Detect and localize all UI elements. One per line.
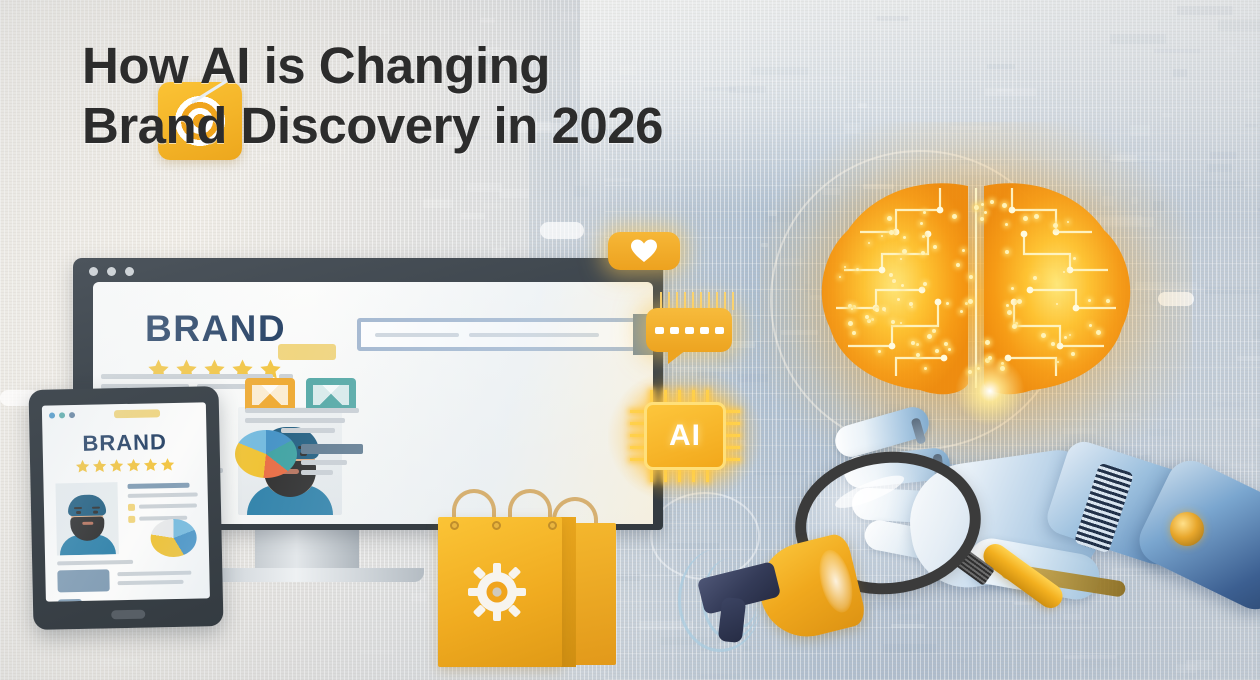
- brain-node-dot: [1106, 299, 1110, 303]
- title-line-2: Brand Discovery in 2026: [82, 96, 982, 156]
- brain-node-dot: [981, 203, 984, 206]
- brain-node-dot: [900, 258, 902, 260]
- brain-node-dot: [892, 279, 896, 283]
- brain-node-dot: [920, 222, 923, 225]
- brain-node-dot: [969, 275, 973, 279]
- title-line-1: How AI is Changing: [82, 37, 550, 94]
- brain-node-dot: [960, 310, 963, 313]
- megaphone: [672, 540, 862, 660]
- window-dot-icon[interactable]: [89, 267, 98, 276]
- brain-node-dot: [965, 302, 968, 305]
- brain-node-dot: [889, 230, 894, 235]
- chip-pin: [724, 458, 740, 461]
- tablet-home-button[interactable]: [111, 610, 145, 620]
- content-line: [301, 460, 347, 465]
- brain-node-dot: [1064, 336, 1067, 339]
- brain-node-dot: [871, 318, 874, 321]
- brain-node-dot: [927, 334, 932, 339]
- brain-node-dot: [851, 308, 853, 310]
- chip-pin: [724, 434, 740, 437]
- brain-node-dot: [1033, 276, 1037, 280]
- highlight-bar: [278, 344, 336, 360]
- brain-node-dot: [852, 331, 856, 335]
- chip-body: AI: [644, 402, 726, 470]
- chip-pin: [724, 410, 740, 413]
- brain-node-dot: [956, 263, 960, 267]
- brain-node-dot: [887, 216, 892, 221]
- window-dot-icon[interactable]: [107, 267, 116, 276]
- heart-badge[interactable]: [608, 232, 680, 270]
- brain-node-dot: [1067, 221, 1069, 223]
- screen-glare-overlay: [42, 402, 210, 601]
- typing-dot-icon: [685, 327, 694, 334]
- brain-node-dot: [903, 236, 906, 239]
- typing-dot-icon: [655, 327, 664, 334]
- brain-node-dot: [921, 251, 925, 255]
- brain-node-dot: [984, 211, 987, 214]
- heart-icon: [630, 238, 658, 264]
- brain-node-dot: [1041, 333, 1046, 338]
- chip-pin: [724, 422, 740, 425]
- brain-node-dot: [1002, 203, 1007, 208]
- brain-node-dot: [1017, 299, 1022, 304]
- brain-node-dot: [1063, 271, 1065, 273]
- brain-node-dot: [856, 268, 859, 271]
- brand-heading: BRAND: [145, 308, 286, 350]
- brain-node-dot: [889, 273, 893, 277]
- brain-node-dot: [968, 299, 973, 304]
- brain-node-dot: [980, 217, 984, 221]
- bag-grommet: [450, 521, 459, 530]
- brain-node-dot: [1069, 334, 1071, 336]
- content-line: [245, 408, 359, 413]
- brain-node-dot: [1089, 324, 1092, 327]
- search-input[interactable]: [357, 318, 639, 351]
- brain-node-dot: [901, 284, 904, 287]
- brain-node-dot: [932, 329, 936, 333]
- chip-label: AI: [669, 419, 701, 453]
- gear-icon: [468, 563, 526, 621]
- chip-pin: [650, 468, 653, 482]
- content-line: [301, 470, 333, 475]
- brain-node-dot: [1011, 287, 1014, 290]
- monitor-base: [192, 568, 424, 582]
- hero-illustration: How AI is Changing Brand Discovery in 20…: [0, 0, 1260, 680]
- brain-node-dot: [900, 322, 902, 324]
- magnifier-glare: [832, 470, 907, 514]
- brain-node-dot: [1006, 304, 1009, 307]
- content-line: [245, 418, 345, 423]
- brain-node-dot: [1034, 214, 1039, 219]
- brain-node-dot: [902, 249, 907, 254]
- cloud-shape: [540, 222, 584, 239]
- brain-node-dot: [839, 276, 841, 278]
- brain-node-dot: [1005, 250, 1009, 254]
- brain-node-dot: [875, 308, 879, 312]
- brain-node-dot: [974, 205, 979, 210]
- brain-node-dot: [1005, 223, 1008, 226]
- typing-dot-icon: [670, 327, 679, 334]
- brain-node-dot: [990, 200, 994, 204]
- brain-node-dot: [848, 321, 853, 326]
- bag-grommet: [492, 521, 501, 530]
- brain-node-dot: [962, 249, 965, 252]
- shopping-bags: [430, 495, 640, 680]
- bag-grommet: [548, 521, 557, 530]
- brain-node-dot: [911, 306, 913, 308]
- brain-node-dot: [1096, 330, 1101, 335]
- pie-chart: [235, 430, 297, 478]
- tablet-screen: BRAND: [42, 402, 210, 601]
- window-traffic-lights: [89, 267, 134, 276]
- megaphone-grip: [718, 597, 746, 643]
- brain-node-dot: [844, 266, 846, 268]
- chip-pin: [678, 468, 681, 482]
- brain-node-dot: [897, 298, 900, 301]
- brain-node-dot: [923, 282, 927, 286]
- brain-node-dot: [882, 307, 886, 311]
- brain-node-dot: [922, 235, 925, 238]
- brain-node-dot: [1088, 299, 1091, 302]
- page-title: How AI is Changing Brand Discovery in 20…: [82, 36, 982, 155]
- typing-dot-icon: [700, 327, 709, 334]
- typing-dot-icon: [715, 327, 724, 334]
- brain-node-dot: [1053, 223, 1058, 228]
- brain-node-dot: [1056, 303, 1058, 305]
- search-text-placeholder-line: [375, 333, 459, 337]
- brain-node-dot: [868, 242, 870, 244]
- brain-node-dot: [867, 319, 871, 323]
- brain-node-dot: [1073, 257, 1076, 260]
- content-bar: [301, 444, 363, 454]
- chip-pin: [664, 468, 667, 482]
- search-text-placeholder-line: [469, 333, 599, 337]
- chat-bubble-badge[interactable]: [646, 308, 732, 352]
- chip-pin: [706, 468, 709, 482]
- ai-chip[interactable]: AI: [630, 390, 740, 482]
- content-line: [281, 428, 335, 433]
- brain-node-dot: [946, 302, 949, 305]
- brain-node-dot: [891, 320, 895, 324]
- robot-joint-icon: [1170, 512, 1204, 546]
- brain-node-dot: [1023, 216, 1028, 221]
- brain-node-dot: [933, 245, 937, 249]
- brain-node-dot: [1012, 324, 1017, 329]
- brain-node-dot: [1007, 310, 1012, 315]
- brain-node-dot: [952, 214, 957, 219]
- tablet-mockup: BRAND: [29, 386, 224, 630]
- chip-pin: [724, 446, 740, 449]
- monitor-neck: [255, 528, 359, 572]
- window-dot-icon[interactable]: [125, 267, 134, 276]
- brain-node-dot: [923, 211, 926, 214]
- brain-node-dot: [881, 235, 883, 237]
- chip-pin: [692, 468, 695, 482]
